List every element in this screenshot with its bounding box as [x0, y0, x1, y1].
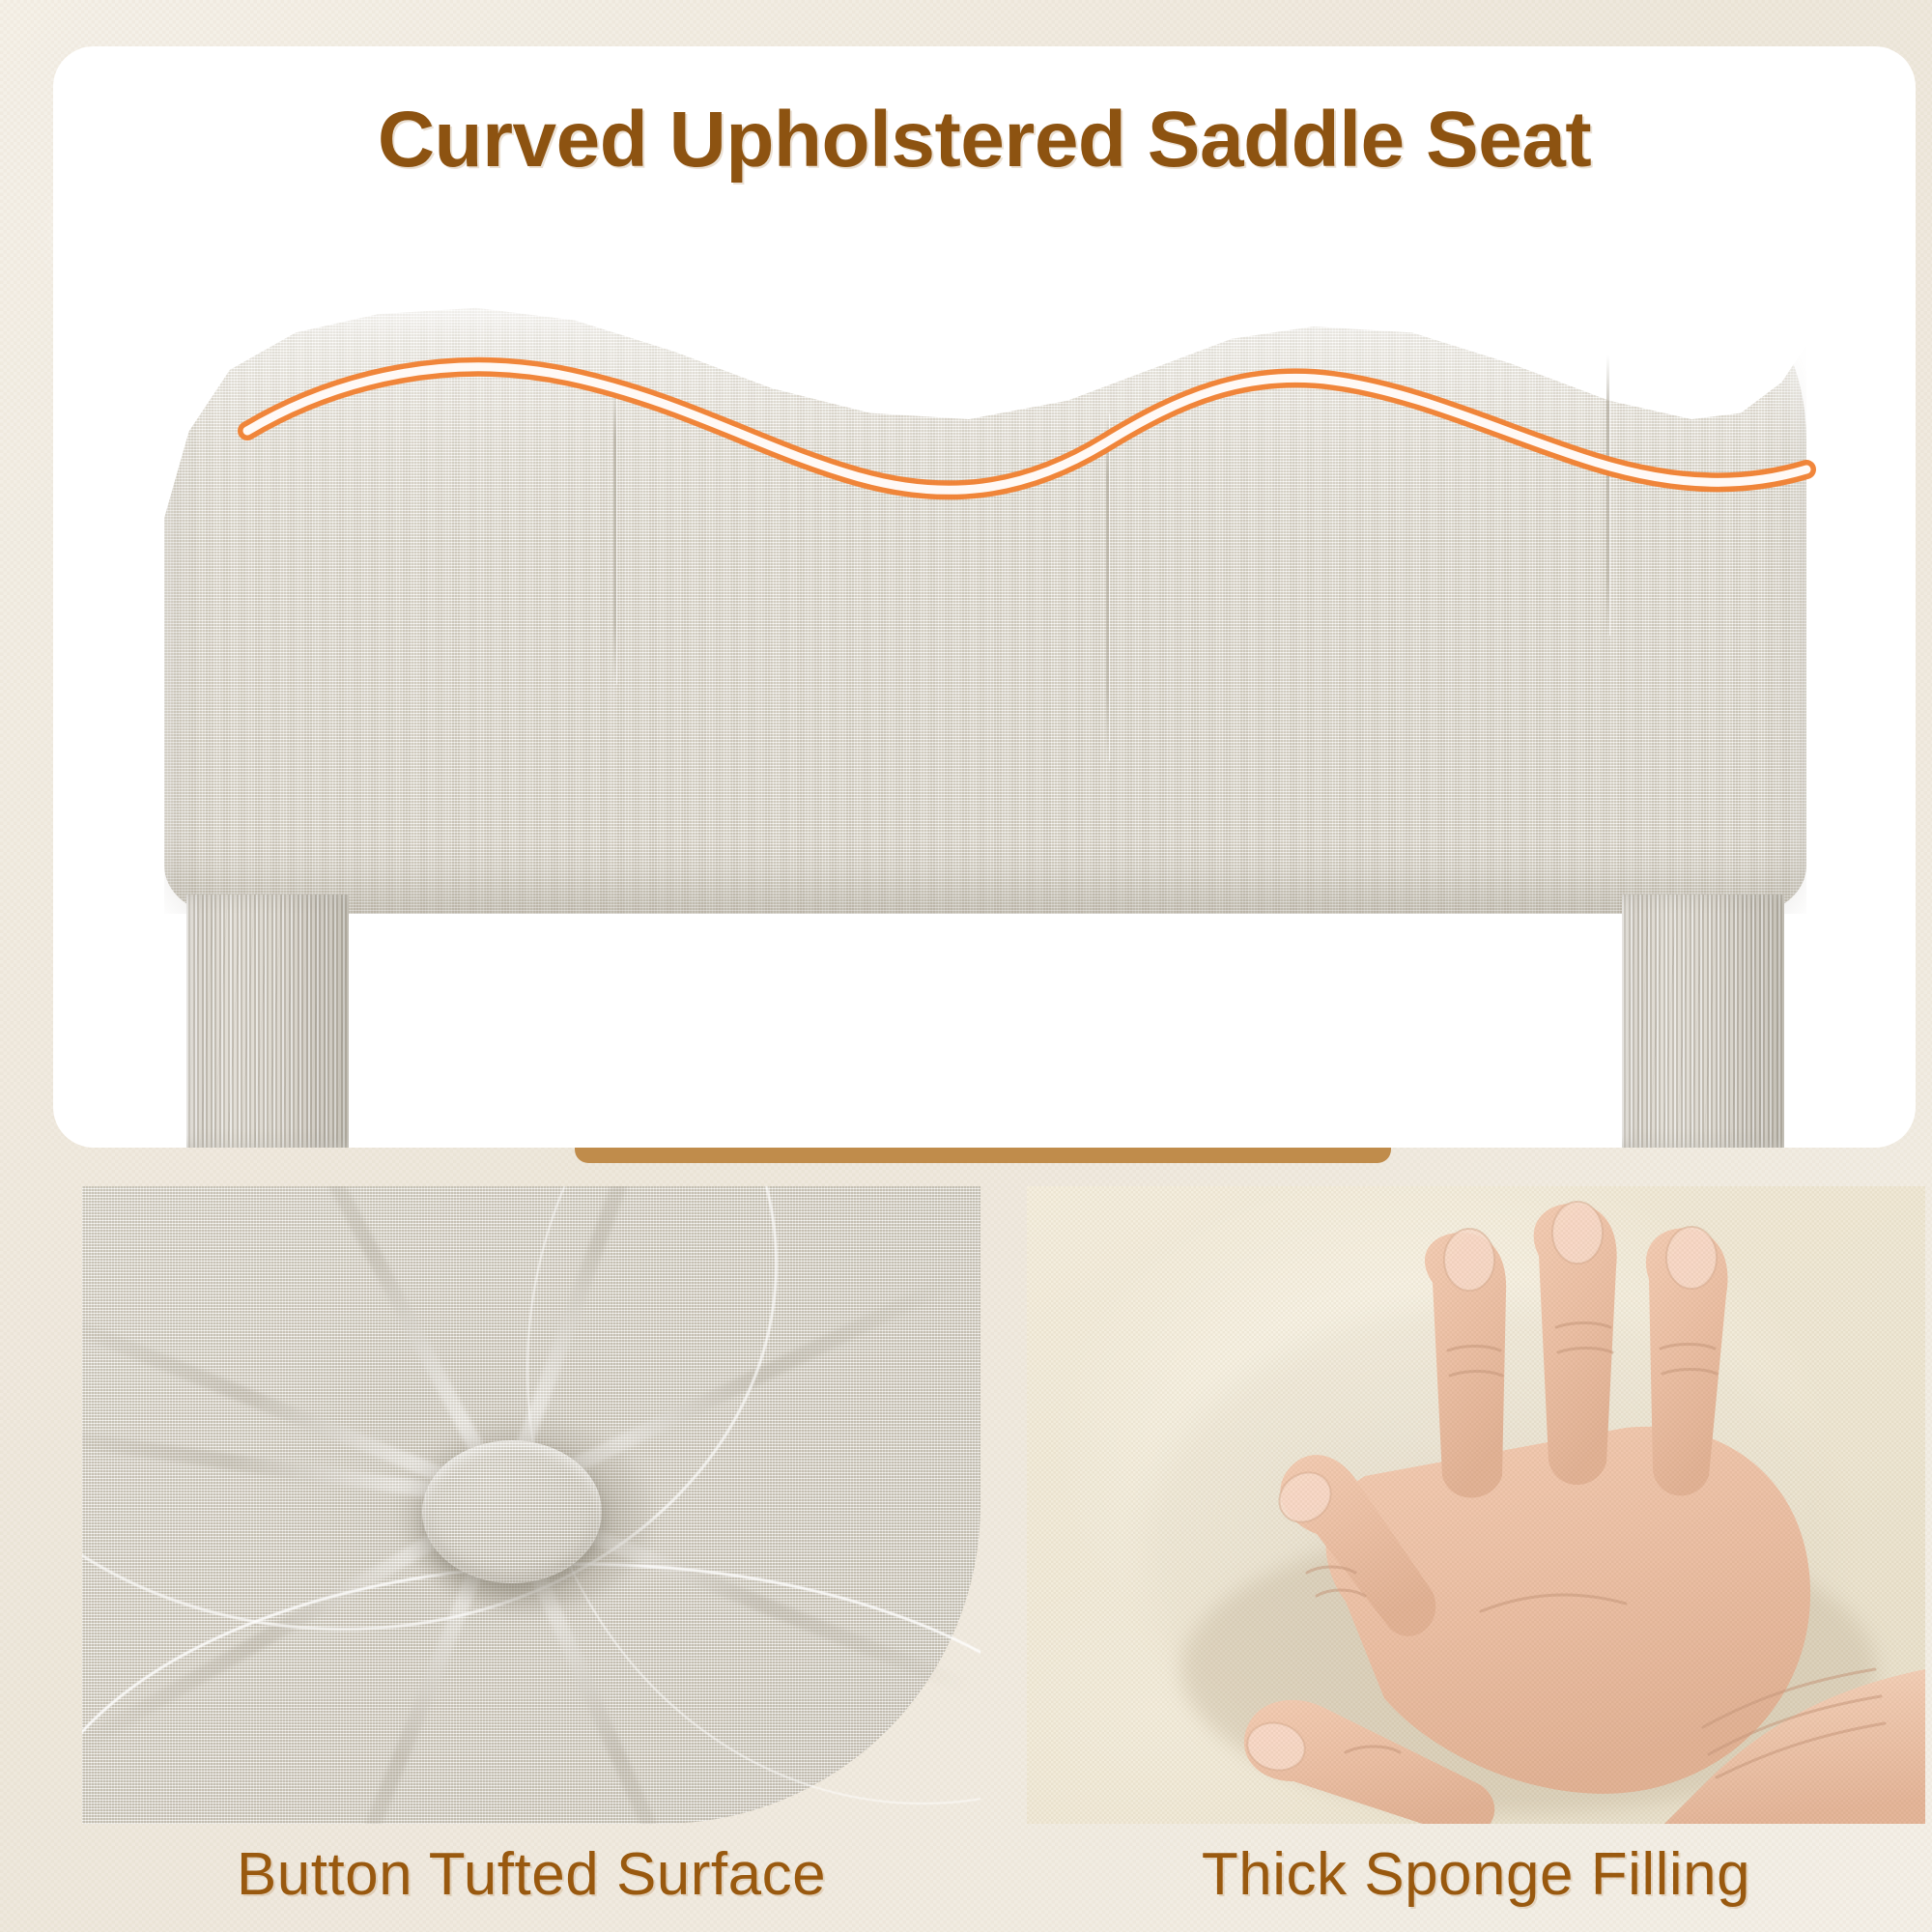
seat-seam-left: [613, 384, 616, 684]
seat-seam-right: [1606, 355, 1609, 636]
caption-thick-sponge: Thick Sponge Filling: [1027, 1840, 1925, 1909]
upholstery-button: [422, 1440, 602, 1583]
caption-button-tufted: Button Tufted Surface: [82, 1840, 980, 1909]
stool-leg-right: [1622, 895, 1784, 1148]
detail-card-thick-sponge: [1027, 1186, 1925, 1824]
seat-seam-center: [1106, 413, 1109, 761]
hand-pressing-foam-icon: [1027, 1186, 1925, 1824]
saddle-stool-photo: [111, 288, 1860, 1148]
hero-card: Curved Upholstered Saddle Seat: [53, 46, 1916, 1148]
page-title: Curved Upholstered Saddle Seat: [53, 97, 1916, 184]
button-tufted-photo: [82, 1186, 980, 1824]
detail-card-button-tufted: [82, 1186, 980, 1824]
stool-leg-left: [186, 895, 349, 1148]
thick-sponge-photo: [1027, 1186, 1925, 1824]
foam-depression-shadow: [1143, 1302, 1838, 1804]
upholstered-seat: [164, 296, 1806, 914]
